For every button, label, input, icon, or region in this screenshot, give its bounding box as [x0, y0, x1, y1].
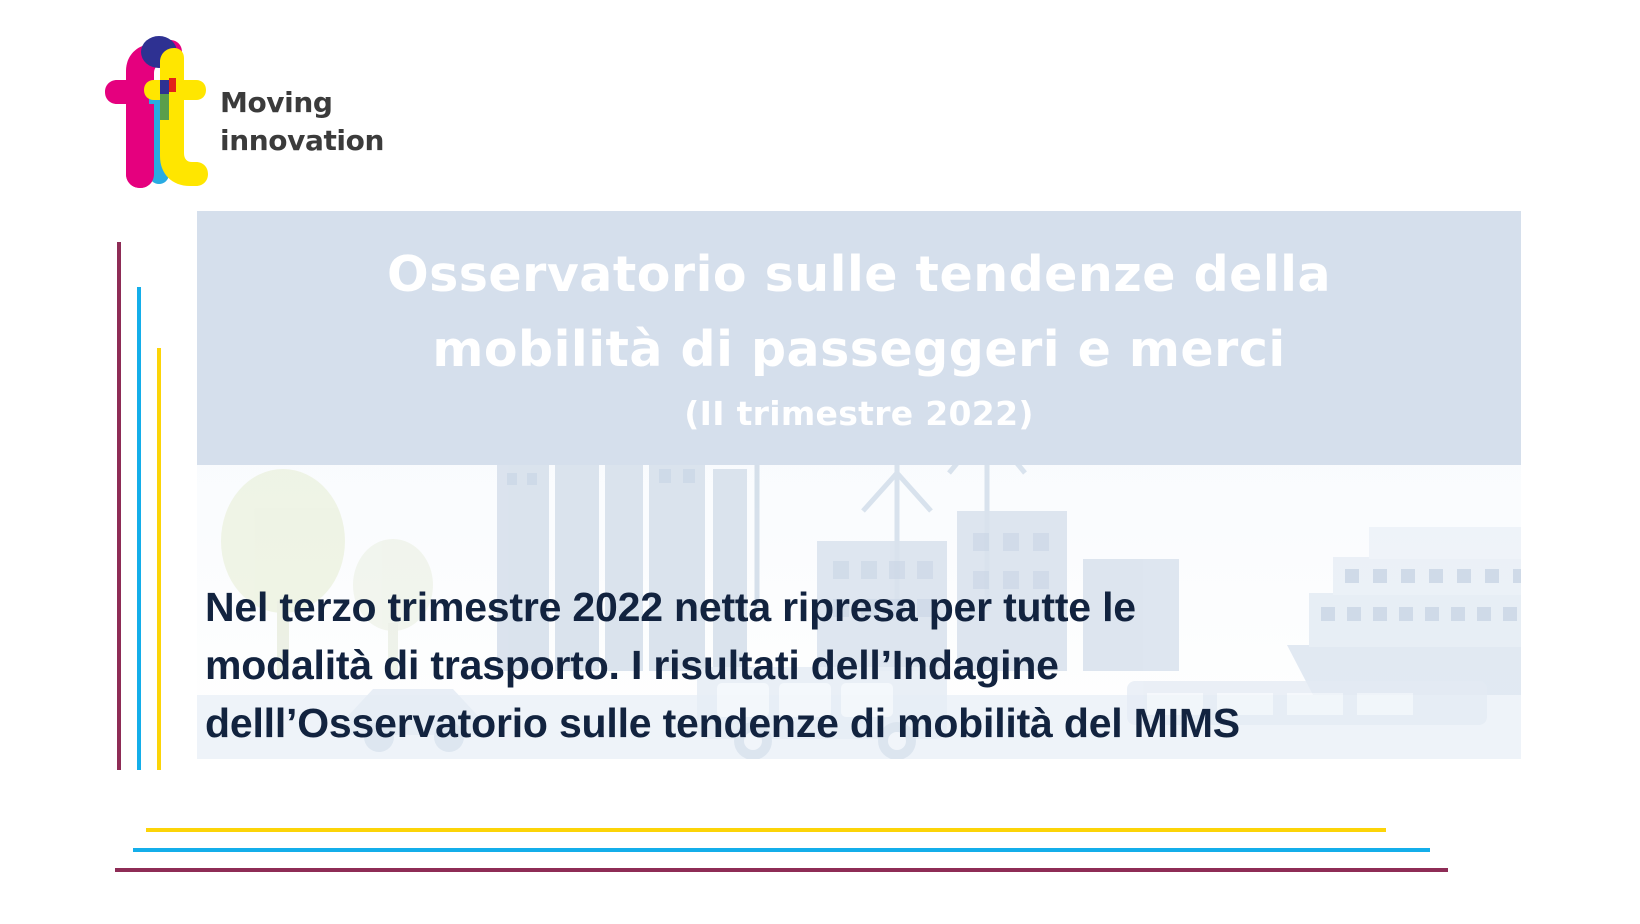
title-line-1: Osservatorio sulle tendenze della [387, 238, 1331, 312]
logo-tagline-line-2: innovation [220, 122, 400, 160]
title-line-2: mobilità di passeggeri e merci [432, 313, 1285, 387]
bottom-rule-maroon [115, 868, 1448, 872]
bottom-rule-cyan [133, 848, 1430, 852]
body-text: Nel terzo trimestre 2022 netta ripresa p… [205, 578, 1435, 752]
body-line-1: Nel terzo trimestre 2022 netta ripresa p… [205, 578, 1435, 636]
slide-root: Moving innovation [0, 0, 1640, 924]
accent-bar-yellow [157, 348, 161, 770]
body-line-2: modalità di trasporto. I risultati dell’… [205, 636, 1435, 694]
brand-logo[interactable]: Moving innovation [104, 28, 404, 198]
body-line-3: delll’Osservatorio sulle tendenze di mob… [205, 694, 1435, 752]
accent-bar-purple [117, 242, 121, 770]
logo-tagline-line-1: Moving [220, 84, 400, 122]
bottom-rule-yellow [146, 828, 1386, 832]
title-banner: Osservatorio sulle tendenze della mobili… [197, 211, 1521, 465]
logo-tagline: Moving innovation [220, 84, 400, 160]
fit-logo-mark-icon [104, 28, 208, 192]
accent-bar-cyan [137, 287, 141, 770]
title-subtitle: (II trimestre 2022) [684, 391, 1033, 437]
